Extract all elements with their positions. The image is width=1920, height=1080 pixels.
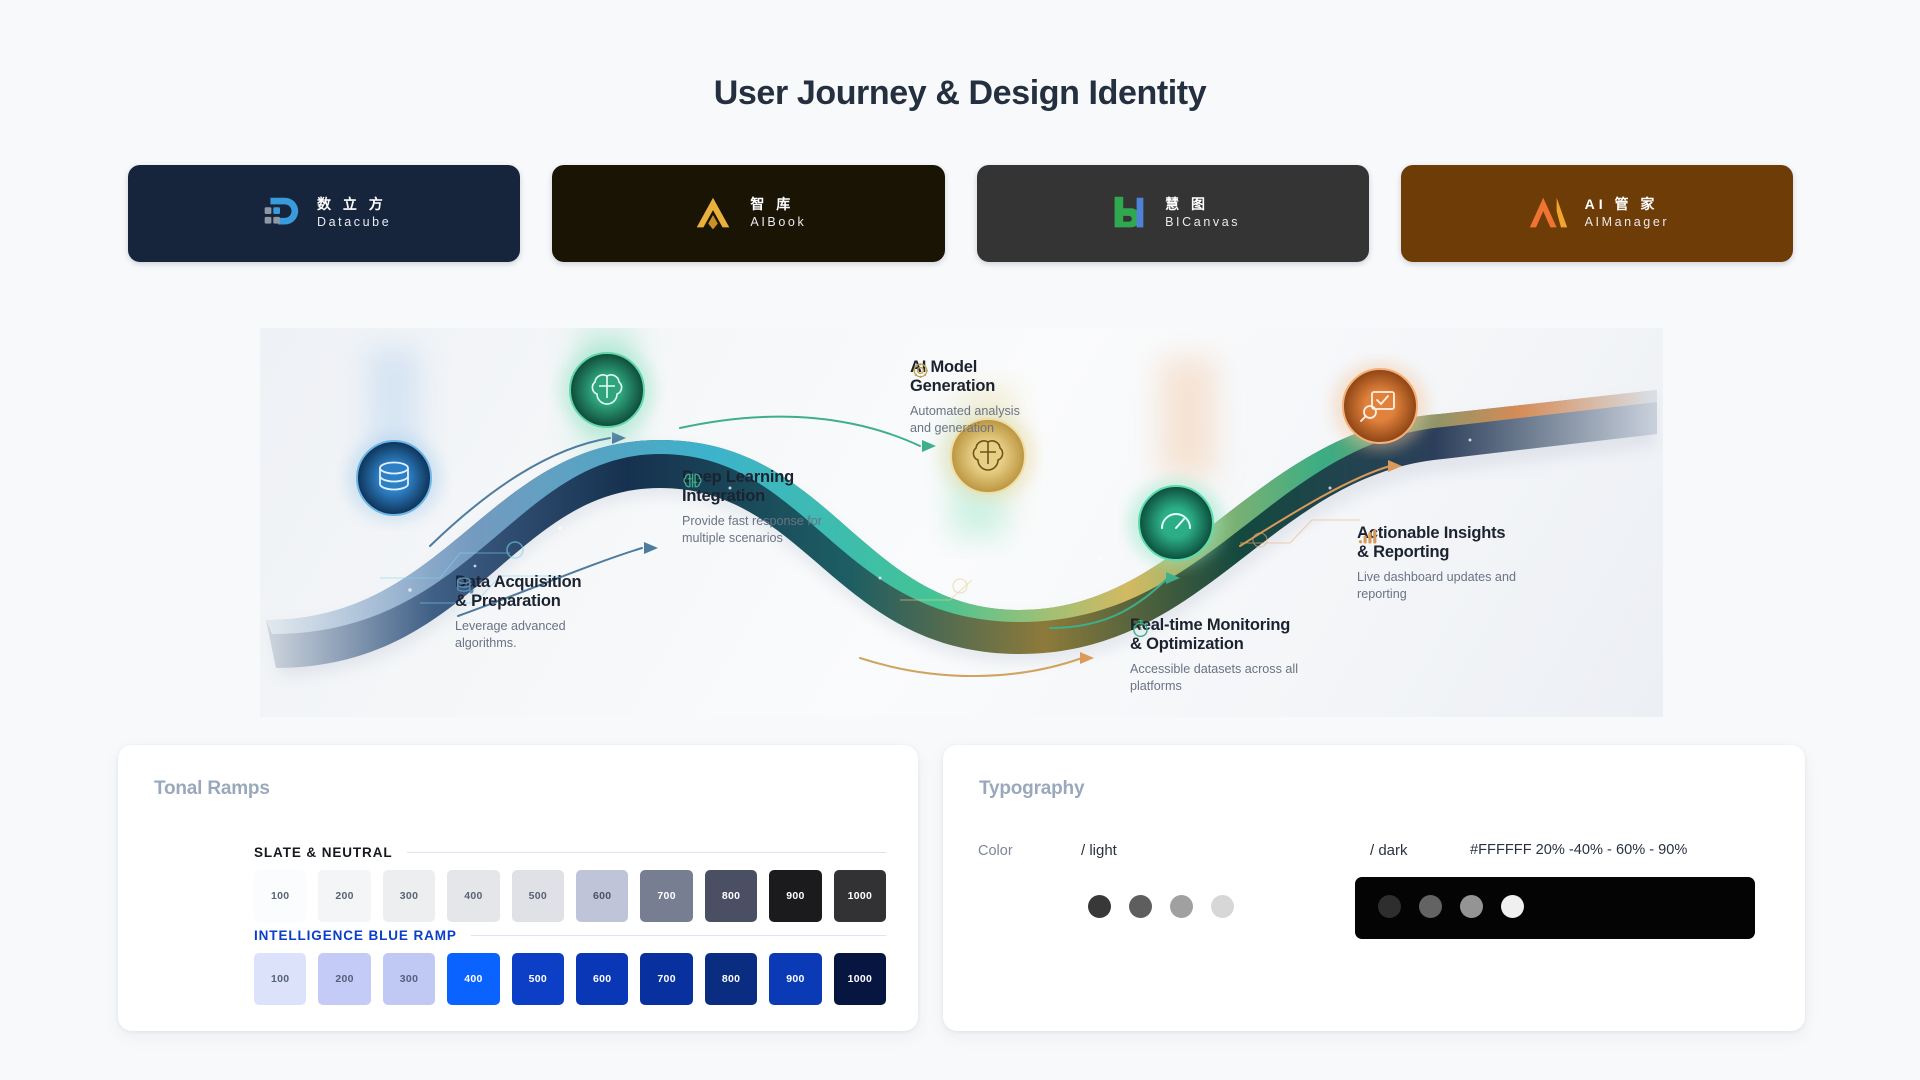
color-swatch[interactable]: 200 [318, 870, 370, 922]
typography-light-dots [1088, 895, 1234, 918]
brand-name-en: Datacube [317, 216, 391, 230]
page-title: User Journey & Design Identity [0, 74, 1920, 113]
typography-color-dot[interactable] [1088, 895, 1111, 918]
journey-node-1: Data Acquisition & Preparation Leverage … [455, 573, 581, 651]
journey-node-2-title: Deep Learning Integration [682, 468, 822, 506]
journey-node-4: Real-time Monitoring & Optimization Acce… [1130, 616, 1298, 694]
typography-color-dot[interactable] [1460, 895, 1483, 918]
bicanvas-logo-icon [1105, 192, 1151, 236]
typography-dark-tag: / dark [1370, 842, 1408, 859]
datacube-logo-icon [257, 192, 303, 236]
journey-node-marker-1 [346, 434, 442, 522]
brand-text: 慧 图 BICanvas [1165, 197, 1240, 229]
color-swatch[interactable]: 700 [640, 870, 692, 922]
journey-node-marker-2 [559, 346, 655, 434]
slate-swatch-row: 1002003004005006007008009001000 [254, 870, 886, 922]
typography-title: Typography [979, 778, 1084, 800]
aimanager-logo-icon [1525, 192, 1571, 236]
color-swatch[interactable]: 500 [512, 953, 564, 1005]
brand-name-en: AIManager [1585, 216, 1670, 230]
design-system-page: User Journey & Design Identity 数 立 方 Dat… [0, 0, 1920, 1080]
color-swatch[interactable]: 300 [383, 870, 435, 922]
journey-node-3: AI Model Generation Automated analysis a… [910, 358, 1020, 436]
blue-ramp: INTELLIGENCE BLUE RAMP 10020030040050060… [254, 928, 886, 1005]
typography-color-label: Color [978, 843, 1013, 859]
color-swatch[interactable]: 300 [383, 953, 435, 1005]
journey-node-5-subtitle: Live dashboard updates and reporting [1357, 569, 1516, 602]
tonal-ramps-title: Tonal Ramps [154, 778, 270, 800]
brand-card-bicanvas[interactable]: 慧 图 BICanvas [977, 165, 1369, 262]
brand-card-datacube[interactable]: 数 立 方 Datacube [128, 165, 520, 262]
slate-ramp-label: SLATE & NEUTRAL [254, 845, 393, 860]
brand-card-aibook[interactable]: 智 库 AIBook [552, 165, 944, 262]
slate-ramp: SLATE & NEUTRAL 100200300400500600700800… [254, 845, 886, 922]
journey-node-3-subtitle: Automated analysis and generation [910, 403, 1020, 436]
typography-color-dot[interactable] [1129, 895, 1152, 918]
blue-swatch-row: 1002003004005006007008009001000 [254, 953, 886, 1005]
color-swatch[interactable]: 600 [576, 953, 628, 1005]
typography-light-tag: / light [1081, 842, 1117, 859]
color-swatch[interactable]: 1000 [834, 953, 886, 1005]
journey-node-2-subtitle: Provide fast response for multiple scena… [682, 513, 822, 546]
color-swatch[interactable]: 900 [769, 870, 821, 922]
journey-node-4-text: Real-time Monitoring & Optimization Acce… [1130, 616, 1298, 694]
color-swatch[interactable]: 500 [512, 870, 564, 922]
typography-color-dot[interactable] [1501, 895, 1524, 918]
brand-name-cn: AI 管 家 [1585, 197, 1670, 212]
journey-node-4-subtitle: Accessible datasets across all platforms [1130, 661, 1298, 694]
aibook-logo-icon [690, 192, 736, 236]
journey-node-4-title: Real-time Monitoring & Optimization [1130, 616, 1298, 654]
journey-node-marker-4 [1128, 479, 1224, 567]
brain-icon [682, 470, 703, 491]
database-icon [455, 575, 476, 596]
brand-text: 数 立 方 Datacube [317, 197, 391, 229]
color-swatch[interactable]: 200 [318, 953, 370, 1005]
slate-ramp-header: SLATE & NEUTRAL [254, 845, 886, 860]
brand-name-cn: 慧 图 [1165, 197, 1240, 212]
slate-ramp-divider [407, 852, 887, 853]
typography-color-dot[interactable] [1170, 895, 1193, 918]
brand-text: AI 管 家 AIManager [1585, 197, 1670, 229]
journey-node-marker-5 [1332, 362, 1428, 450]
stopwatch-icon [1130, 618, 1151, 639]
color-swatch[interactable]: 1000 [834, 870, 886, 922]
color-swatch[interactable]: 700 [640, 953, 692, 1005]
journey-node-5: Actionable Insights & Reporting Live das… [1357, 524, 1516, 602]
bar-chart-icon [1357, 526, 1378, 547]
typography-dark-dots [1378, 895, 1524, 918]
journey-node-5-text: Actionable Insights & Reporting Live das… [1357, 524, 1516, 602]
blue-ramp-label: INTELLIGENCE BLUE RAMP [254, 928, 457, 943]
brand-card-row: 数 立 方 Datacube 智 库 AIBook 慧 图 BICanvas [128, 165, 1793, 262]
brand-name-en: BICanvas [1165, 216, 1240, 230]
color-swatch[interactable]: 600 [576, 870, 628, 922]
color-swatch[interactable]: 800 [705, 953, 757, 1005]
typography-color-dot[interactable] [1211, 895, 1234, 918]
journey-node-2-text: Deep Learning Integration Provide fast r… [682, 468, 822, 546]
blue-ramp-divider [471, 935, 886, 936]
brand-name-cn: 智 库 [750, 197, 806, 212]
brand-name-cn: 数 立 方 [317, 197, 391, 212]
color-swatch[interactable]: 100 [254, 870, 306, 922]
journey-diagram: Data Acquisition & Preparation Leverage … [260, 328, 1663, 717]
color-swatch[interactable]: 800 [705, 870, 757, 922]
gear-icon [910, 360, 931, 381]
color-swatch[interactable]: 400 [447, 870, 499, 922]
journey-node-5-title: Actionable Insights & Reporting [1357, 524, 1516, 562]
typography-color-dot[interactable] [1419, 895, 1442, 918]
brand-card-aimanager[interactable]: AI 管 家 AIManager [1401, 165, 1793, 262]
typography-color-dot[interactable] [1378, 895, 1401, 918]
brand-text: 智 库 AIBook [750, 197, 806, 229]
color-swatch[interactable]: 400 [447, 953, 499, 1005]
color-swatch[interactable]: 100 [254, 953, 306, 1005]
tonal-ramps-panel: Tonal Ramps SLATE & NEUTRAL 100200300400… [118, 745, 918, 1031]
journey-node-2: Deep Learning Integration Provide fast r… [682, 468, 822, 546]
brand-name-en: AIBook [750, 216, 806, 230]
typography-opacity-spec: #FFFFFF 20% -40% - 60% - 90% [1470, 842, 1687, 858]
color-swatch[interactable]: 900 [769, 953, 821, 1005]
journey-node-1-subtitle: Leverage advanced algorithms. [455, 618, 581, 651]
blue-ramp-header: INTELLIGENCE BLUE RAMP [254, 928, 886, 943]
